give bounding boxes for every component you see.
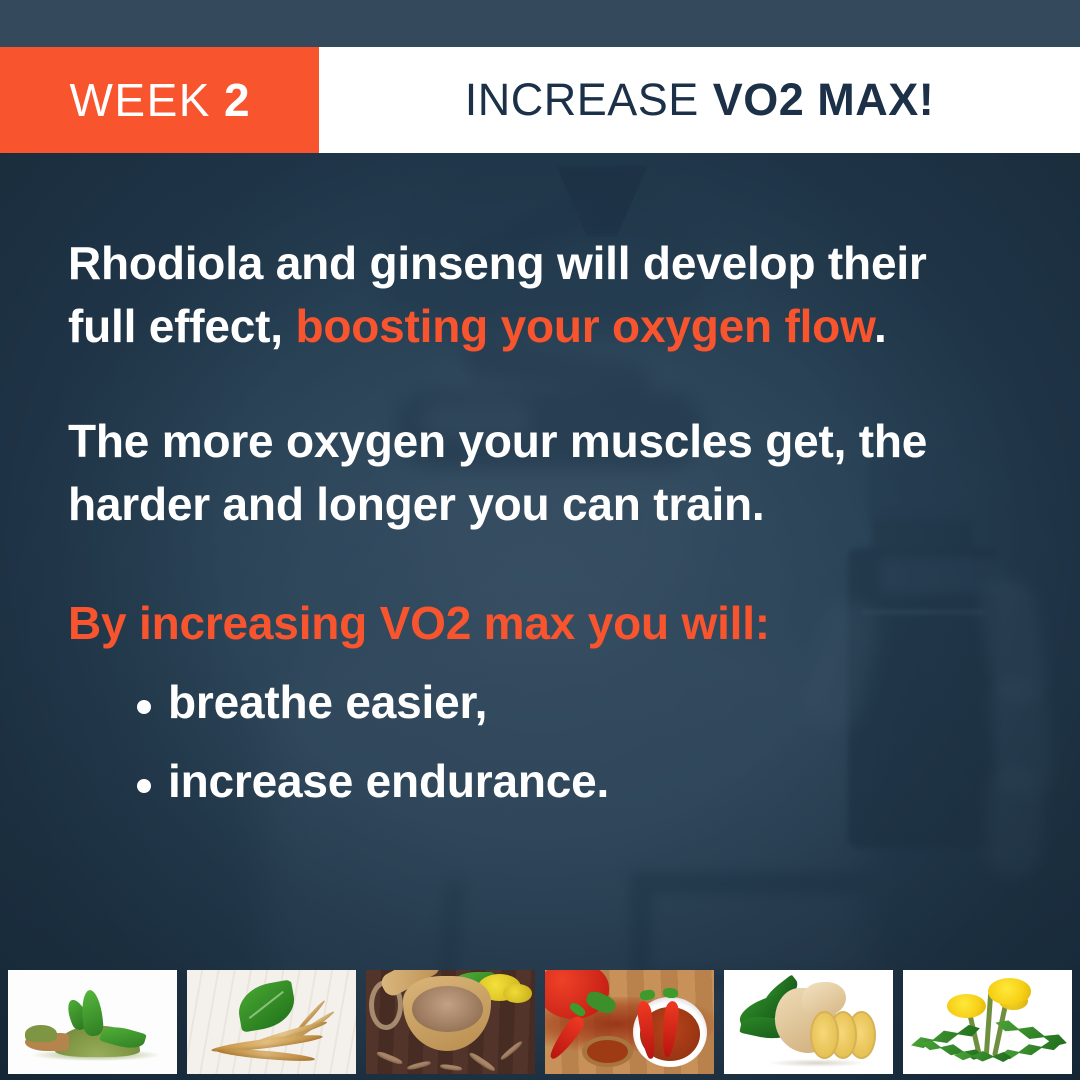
green-powder-leaves-photo: [8, 970, 177, 1074]
content-area: Rhodiola and ginseng will develop their …: [68, 232, 998, 813]
header-bar: WEEK 2 INCREASE VO2 MAX!: [0, 47, 1080, 153]
list-item-label: breathe easier,: [168, 676, 487, 728]
chili-pepper-paprika-photo: [545, 970, 714, 1074]
title-light-part: INCREASE: [465, 74, 699, 126]
ingredient-strip: [0, 963, 1080, 1080]
ginseng-root-photo: [187, 970, 356, 1074]
title-bold-part: VO2 MAX!: [713, 74, 935, 126]
title-bar: INCREASE VO2 MAX!: [319, 47, 1080, 153]
week-number: 2: [224, 77, 250, 123]
list-item: increase endurance.: [68, 750, 998, 813]
week-badge: WEEK 2: [0, 47, 319, 153]
list-item-label: increase endurance.: [168, 755, 609, 807]
top-rail: [0, 0, 1080, 47]
dried-root-spoon-photo: [366, 970, 535, 1074]
promo-poster: WEEK 2 INCREASE VO2 MAX! Rhodiola and gi…: [0, 0, 1080, 1080]
week-label: WEEK: [69, 77, 210, 123]
bullet-dot-icon: [137, 779, 151, 793]
paragraph-two: The more oxygen your muscles get, the ha…: [68, 410, 998, 536]
ginger-root-photo: [724, 970, 893, 1074]
paragraph-one: Rhodiola and ginseng will develop their …: [68, 232, 998, 358]
dandelion-flower-photo: [903, 970, 1072, 1074]
list-item: breathe easier,: [68, 671, 998, 734]
paragraph-one-highlight: boosting your oxygen flow: [295, 300, 874, 352]
paragraph-one-part2: .: [874, 300, 887, 352]
benefits-lead-in: By increasing VO2 max you will:: [68, 592, 998, 655]
bullet-dot-icon: [137, 700, 151, 714]
benefits-list: breathe easier, increase endurance.: [68, 671, 998, 813]
